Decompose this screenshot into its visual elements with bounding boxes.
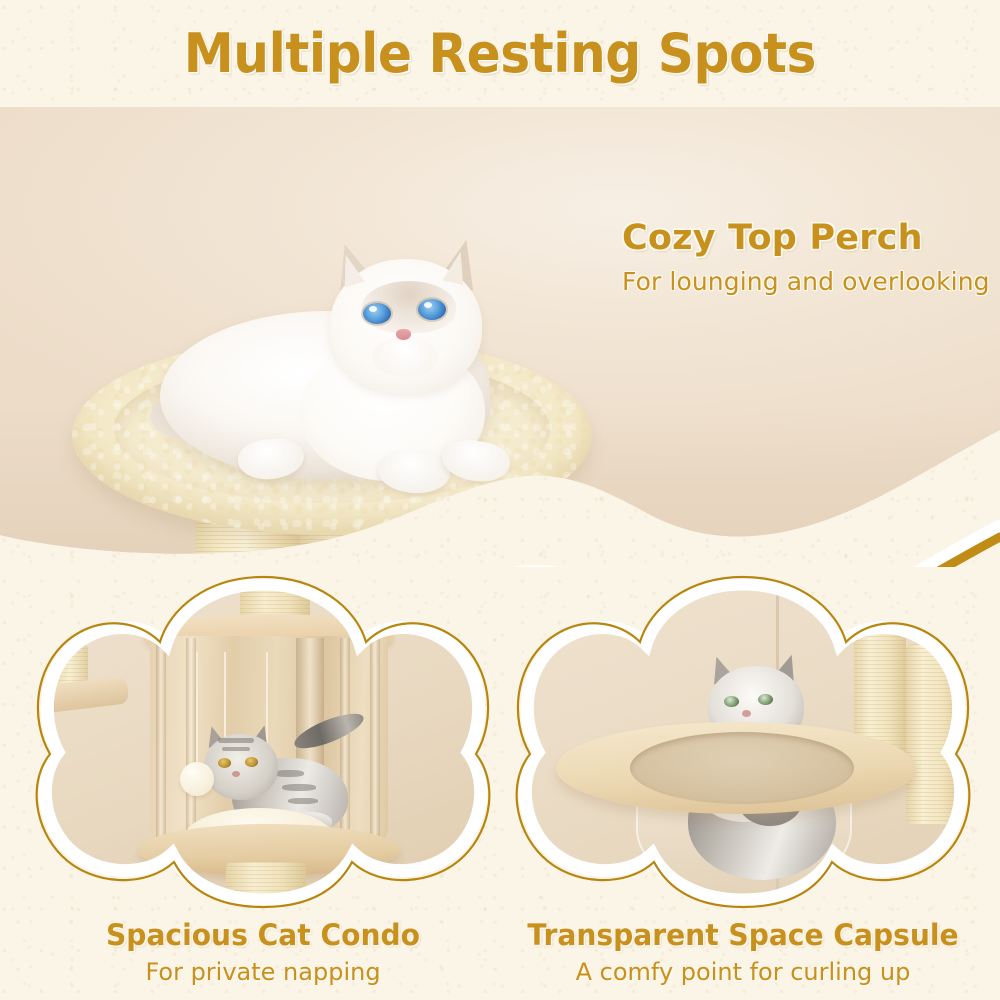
caption-space-capsule: Transparent Space Capsule A comfy point …: [508, 918, 978, 986]
hero-photo-clip: [0, 107, 1000, 567]
cat-paw-front-right: [440, 436, 513, 485]
cat-muzzle: [372, 337, 438, 377]
paw-frame-left: [28, 572, 498, 912]
hero-callout-subtitle: For lounging and overlooking: [622, 267, 992, 296]
caption-title-space-capsule: Transparent Space Capsule: [515, 918, 971, 952]
caption-subtitle-space-capsule: A comfy point for curling up: [508, 958, 978, 986]
hero-callout-title: Cozy Top Perch: [622, 218, 992, 258]
cat-eye-right: [418, 299, 446, 320]
hero-callout: Cozy Top Perch For lounging and overlook…: [622, 218, 992, 296]
paw-frame-right: [508, 572, 978, 912]
header-bar: Multiple Resting Spots: [0, 0, 1000, 107]
cat-nose: [396, 329, 411, 340]
panel-space-capsule[interactable]: [508, 572, 978, 912]
caption-cat-condo: Spacious Cat Condo For private napping: [28, 918, 498, 986]
caption-subtitle-cat-condo: For private napping: [28, 958, 498, 986]
hero-photo: Cozy Top Perch For lounging and overlook…: [0, 107, 1000, 567]
marketing-infographic: Multiple Resting Spots: [0, 0, 1000, 1000]
ragdoll-cat: [150, 237, 530, 487]
caption-title-cat-condo: Spacious Cat Condo: [35, 918, 491, 952]
panel-cat-condo[interactable]: [28, 572, 498, 912]
page-title: Multiple Resting Spots: [184, 22, 816, 85]
cat-eye-left: [363, 303, 391, 324]
